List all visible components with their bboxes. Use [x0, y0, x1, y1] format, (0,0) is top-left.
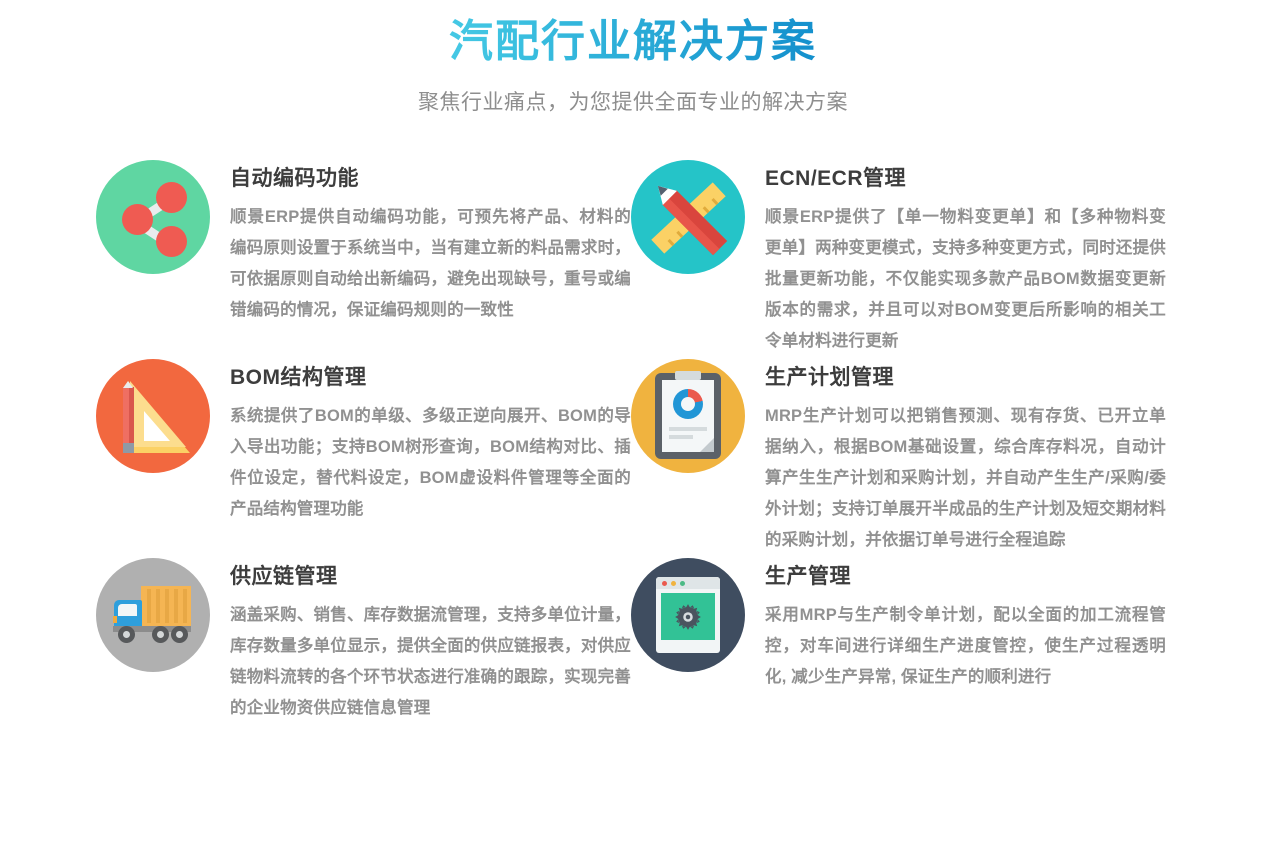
pencil-ruler-icon [631, 160, 745, 274]
feature-card-production-mgmt[interactable]: 生产管理 采用MRP与生产制令单计划，配以全面的加工流程管控，对车间进行详细生产… [631, 558, 1166, 734]
browser-close-dot [662, 581, 667, 586]
feature-description: 系统提供了BOM的单级、多级正逆向展开、BOM的导入导出功能；支持BOM树形查询… [230, 401, 631, 525]
feature-card-production-plan[interactable]: 生产计划管理 MRP生产计划可以把销售预测、现有存货、已开立单据纳入，根据BOM… [631, 359, 1166, 566]
feature-body: 生产计划管理 MRP生产计划可以把销售预测、现有存货、已开立单据纳入，根据BOM… [765, 359, 1166, 556]
triangle-ruler-cutout [144, 411, 170, 441]
feature-icon-wrap [96, 359, 210, 473]
truck-window [118, 604, 137, 616]
browser-maximize-dot [680, 581, 685, 586]
paper-fold-corner [700, 438, 714, 452]
feature-body: ECN/ECR管理 顺景ERP提供了【单一物料变更单】和【多种物料变更单】两种变… [765, 160, 1166, 357]
clipboard-chart-icon [631, 359, 745, 473]
feature-description: 顺景ERP提供了【单一物料变更单】和【多种物料变更单】两种变更模式，支持多种变更… [765, 202, 1166, 357]
feature-body: 供应链管理 涵盖采购、销售、库存数据流管理，支持多单位计量，库存数量多单位显示，… [230, 558, 631, 724]
feature-description: MRP生产计划可以把销售预测、现有存货、已开立单据纳入，根据BOM基础设置，综合… [765, 401, 1166, 556]
page-subtitle: 聚焦行业痛点，为您提供全面专业的解决方案 [0, 88, 1266, 118]
delivery-truck-icon [96, 558, 210, 672]
set-square-pencil-icon [96, 359, 210, 473]
clipboard-clip [675, 371, 701, 380]
feature-card-auto-coding[interactable]: 自动编码功能 顺景ERP提供自动编码功能，可预先将产品、材料的编码原则设置于系统… [96, 160, 631, 367]
share-node-1 [122, 204, 153, 235]
feature-card-ecn-ecr[interactable]: ECN/ECR管理 顺景ERP提供了【单一物料变更单】和【多种物料变更单】两种变… [631, 160, 1166, 367]
feature-title: 供应链管理 [230, 562, 631, 592]
browser-minimize-dot [671, 581, 676, 586]
paper-text-line [669, 427, 707, 431]
pencil-shape [123, 381, 134, 453]
feature-title: ECN/ECR管理 [765, 164, 1166, 194]
feature-body: BOM结构管理 系统提供了BOM的单级、多级正逆向展开、BOM的导入导出功能；支… [230, 359, 631, 525]
feature-description: 涵盖采购、销售、库存数据流管理，支持多单位计量，库存数量多单位显示，提供全面的供… [230, 600, 631, 724]
paper-text-line [669, 435, 693, 439]
feature-title: BOM结构管理 [230, 363, 631, 393]
feature-icon-wrap [96, 558, 210, 672]
feature-body: 自动编码功能 顺景ERP提供自动编码功能，可预先将产品、材料的编码原则设置于系统… [230, 160, 631, 326]
feature-icon-wrap [631, 359, 745, 473]
feature-body: 生产管理 采用MRP与生产制令单计划，配以全面的加工流程管控，对车间进行详细生产… [765, 558, 1166, 693]
gear-icon [674, 603, 702, 631]
truck-cargo-box [141, 586, 191, 626]
share-nodes-icon [96, 160, 210, 274]
truck-wheel [171, 626, 188, 643]
page-title: 汽配行业解决方案 [449, 12, 817, 72]
donut-chart-icon [673, 389, 703, 419]
browser-gear-icon [631, 558, 745, 672]
feature-title: 生产管理 [765, 562, 1166, 592]
feature-icon-wrap [631, 558, 745, 672]
feature-icon-wrap [96, 160, 210, 274]
share-node-3 [156, 226, 187, 257]
share-node-2 [156, 182, 187, 213]
feature-grid: 自动编码功能 顺景ERP提供自动编码功能，可预先将产品、材料的编码原则设置于系统… [0, 160, 1266, 734]
feature-icon-wrap [631, 160, 745, 274]
feature-title: 自动编码功能 [230, 164, 631, 194]
feature-card-supply-chain[interactable]: 供应链管理 涵盖采购、销售、库存数据流管理，支持多单位计量，库存数量多单位显示，… [96, 558, 631, 734]
feature-description: 采用MRP与生产制令单计划，配以全面的加工流程管控，对车间进行详细生产进度管控，… [765, 600, 1166, 693]
page-header: 汽配行业解决方案 聚焦行业痛点，为您提供全面专业的解决方案 [0, 0, 1266, 118]
feature-card-bom-structure[interactable]: BOM结构管理 系统提供了BOM的单级、多级正逆向展开、BOM的导入导出功能；支… [96, 359, 631, 566]
feature-title: 生产计划管理 [765, 363, 1166, 393]
truck-wheel [152, 626, 169, 643]
feature-description: 顺景ERP提供自动编码功能，可预先将产品、材料的编码原则设置于系统当中，当有建立… [230, 202, 631, 326]
truck-wheel [118, 626, 135, 643]
solutions-page: 汽配行业解决方案 聚焦行业痛点，为您提供全面专业的解决方案 自动编码功能 顺景E… [0, 0, 1266, 859]
truck-headlight [113, 616, 117, 623]
